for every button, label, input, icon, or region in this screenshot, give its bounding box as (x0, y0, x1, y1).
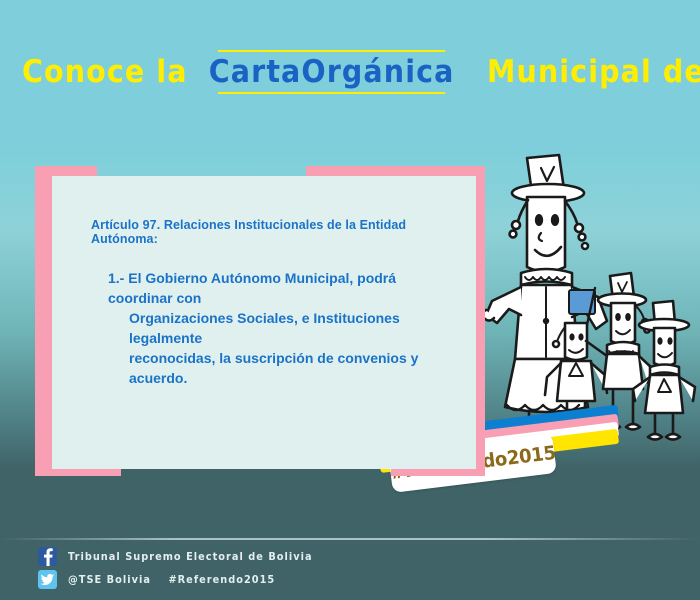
title-prefix: Conoce la (22, 52, 188, 92)
twitter-handle: @TSE Bolivia (68, 574, 168, 586)
twitter-icon[interactable] (38, 570, 57, 589)
frame-edge-left (35, 166, 52, 476)
article-text-block: Artículo 97. Relaciones Institucionales … (52, 176, 476, 388)
twitter-row[interactable]: @TSE Bolivia#Referendo2015 (38, 570, 291, 589)
article-body: 1.- El Gobierno Autónomo Municipal, podr… (108, 268, 450, 388)
article-heading: Artículo 97. Relaciones Institucionales … (91, 218, 450, 246)
cholita-characters-illustration (455, 145, 700, 445)
article-card: Artículo 97. Relaciones Institucionales … (52, 176, 476, 469)
title-highlight: CartaOrgánica (206, 52, 457, 92)
characters-svg (455, 145, 700, 445)
facebook-icon[interactable] (38, 547, 57, 566)
poster-title: Conoce laCartaOrgánicaMunicipal de Tacop… (0, 52, 700, 98)
facebook-row[interactable]: Tribunal Supremo Electoral de Bolivia (38, 547, 331, 566)
footer-bar: Tribunal Supremo Electoral de Bolivia @T… (0, 543, 700, 600)
poster-canvas: Conoce laCartaOrgánicaMunicipal de Tacop… (0, 0, 700, 600)
article-body-line-1: 1.- El Gobierno Autónomo Municipal, podr… (108, 268, 450, 308)
footer-divider (0, 538, 700, 540)
article-body-line-2: Organizaciones Sociales, e Instituciones… (129, 308, 450, 348)
facebook-page-name: Tribunal Supremo Electoral de Bolivia (68, 551, 313, 563)
twitter-handle-and-hashtag: @TSE Bolivia#Referendo2015 (68, 574, 275, 586)
article-card-frame: Artículo 97. Relaciones Institucionales … (35, 166, 485, 476)
title-suffix: Municipal de Tacopaya (487, 52, 700, 92)
footer-hashtag: #Referendo2015 (168, 574, 275, 586)
article-body-line-3: reconocidas, la suscripción de convenios… (129, 348, 450, 388)
